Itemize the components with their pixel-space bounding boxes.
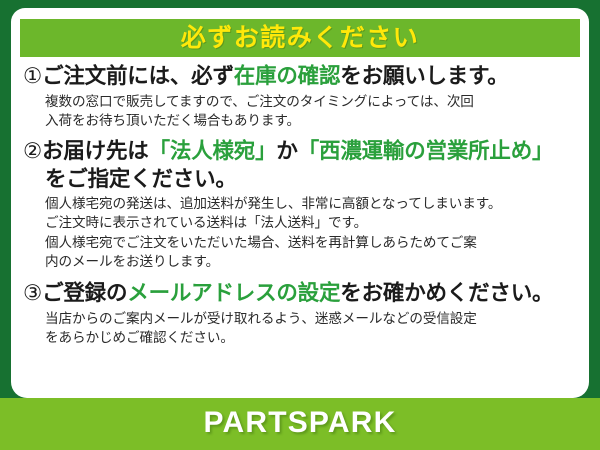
notice-item-3-text-b: をお確かめください。 <box>340 281 553 305</box>
notice-header-banner: 必ずお読みください <box>20 19 580 57</box>
notice-item-1-subline-1: 複数の窓口で販売してますので、ご注文のタイミングによっては、次回 <box>45 92 578 111</box>
notice-item-2-highlight-1: 「法人様宛」 <box>149 139 277 163</box>
notice-item-2-subline-4: 内のメールをお送りします。 <box>45 252 578 271</box>
notice-item-3-text-a: ご登録の <box>42 281 127 305</box>
notice-item-2-text-a: お届け先は <box>42 139 149 163</box>
partspark-logo: PARTSPARK <box>203 406 396 440</box>
notice-item-3: ③ご登録のメールアドレスの設定をお確かめください。 当店からのご案内メールが受け… <box>23 280 578 347</box>
notice-footer: PARTSPARK <box>0 398 600 450</box>
notice-item-2-highlight-2: 「西濃運輸の営業所止め」 <box>298 139 554 163</box>
notice-item-2-subline-1: 個人様宅宛の発送は、追加送料が発生し、非常に高額となってしまいます。 <box>45 194 578 213</box>
notice-card: 必ずお読みください ①ご注文前には、必ず在庫の確認をお願いします。 複数の窓口で… <box>0 0 600 450</box>
notice-item-3-subtext: 当店からのご案内メールが受け取れるよう、迷惑メールなどの受信設定 をあらかじめご… <box>45 309 578 348</box>
notice-item-1-marker: ① <box>23 64 42 88</box>
notice-item-2-marker: ② <box>23 139 42 163</box>
notice-item-3-heading: ③ご登録のメールアドレスの設定をお確かめください。 <box>23 280 578 308</box>
notice-item-1-heading: ①ご注文前には、必ず在庫の確認をお願いします。 <box>23 63 578 91</box>
notice-item-1-subline-2: 入荷をお待ち頂いただく場合もあります。 <box>45 111 578 130</box>
notice-item-1-subtext: 複数の窓口で販売してますので、ご注文のタイミングによっては、次回 入荷をお待ち頂… <box>45 92 578 131</box>
notice-item-1-text-b: をお願いします。 <box>340 64 508 88</box>
notice-item-2-heading-line2: をご指定ください。 <box>45 166 578 194</box>
notice-item-1: ①ご注文前には、必ず在庫の確認をお願いします。 複数の窓口で販売してますので、ご… <box>23 63 578 130</box>
notice-panel: 必ずお読みください ①ご注文前には、必ず在庫の確認をお願いします。 複数の窓口で… <box>11 8 589 398</box>
notice-item-2-text-b: か <box>276 139 297 163</box>
notice-item-3-marker: ③ <box>23 281 42 305</box>
notice-item-2-subtext: 個人様宅宛の発送は、追加送料が発生し、非常に高額となってしまいます。 ご注文時に… <box>45 194 578 271</box>
notice-item-2-subline-3: 個人様宅宛でご注文をいただいた場合、送料を再計算しあらためてご案 <box>45 233 578 252</box>
notice-item-1-highlight: 在庫の確認 <box>234 64 341 88</box>
notice-item-1-text-a: ご注文前には、必ず <box>42 64 234 88</box>
notice-item-2-subline-2: ご注文時に表示されている送料は「法人送料」です。 <box>45 213 578 232</box>
notice-item-3-subline-1: 当店からのご案内メールが受け取れるよう、迷惑メールなどの受信設定 <box>45 309 578 328</box>
notice-item-2-heading: ②お届け先は「法人様宛」か「西濃運輸の営業所止め」 をご指定ください。 <box>23 138 578 193</box>
notice-item-2: ②お届け先は「法人様宛」か「西濃運輸の営業所止め」 をご指定ください。 個人様宅… <box>23 138 578 271</box>
notice-item-3-subline-2: をあらかじめご確認ください。 <box>45 328 578 347</box>
notice-items: ①ご注文前には、必ず在庫の確認をお願いします。 複数の窓口で販売してますので、ご… <box>20 57 580 347</box>
notice-item-3-highlight: メールアドレスの設定 <box>127 281 340 305</box>
